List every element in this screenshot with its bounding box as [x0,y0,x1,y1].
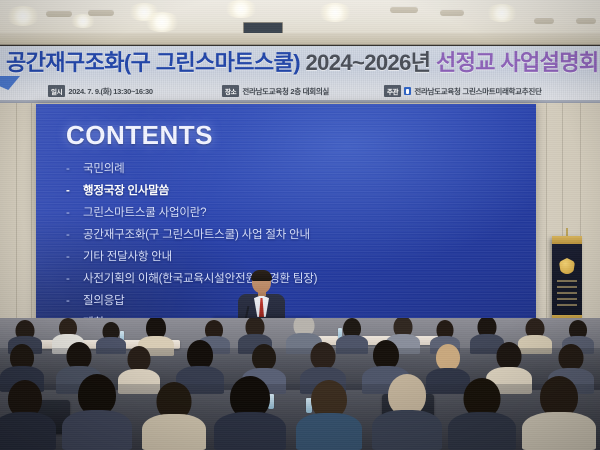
meta-text-organizer: 전라남도교육청 그린스마트미래학교추진단 [414,86,541,97]
flag-header-band [552,236,582,244]
bullet-text: 행정국장 인사말씀 [83,180,169,202]
meta-text-location: 전라남도교육청 2층 대회의실 [242,86,329,97]
ceremonial-flag [552,236,582,324]
ceiling-vent [534,17,554,24]
presenter-hair [251,270,272,281]
organizer-logo-icon [404,87,411,95]
slide-heading: CONTENTS [66,120,213,151]
audience-member [62,374,132,450]
banner-meta-datetime: 일시 2024. 7. 9.(화) 13:30~16:30 [48,85,153,97]
ceiling-vent [576,17,596,24]
bullet-text: 그린스마트스쿨 사업이란? [83,202,206,224]
meta-tag-datetime: 일시 [48,85,65,97]
ceiling-vent [46,10,72,17]
bullet-marker: - [66,224,74,246]
bullet-marker: - [66,158,74,180]
meta-text-datetime: 2024. 7. 9.(화) 13:30~16:30 [68,86,152,97]
banner-meta-organizer: 주관 전라남도교육청 그린스마트미래학교추진단 [384,85,542,97]
banner-title-part2: 2024~2026년 [305,50,430,75]
audience-member [448,378,516,450]
bullet-marker: - [66,180,74,202]
bullet-text: 공간재구조화(구 그린스마트스쿨) 사업 절차 안내 [83,224,310,246]
ceiling-light-icon [144,12,180,32]
ceiling-light-icon [70,14,96,28]
slide-bullet-item: - 국민의례 [66,158,506,180]
bullet-marker: - [66,290,74,312]
audience-member [142,382,206,450]
audience-member [372,374,442,450]
slide-bullet-item-highlighted: - 행정국장 인사말씀 [66,180,506,202]
audience-member [214,376,286,450]
bullet-marker: - [66,246,74,268]
audience-member [522,376,596,450]
conference-photo: 공간재구조화(구 그린스마트스쿨) 2024~2026년 선정교 사업설명회 일… [0,0,600,450]
flag-lettering [557,280,577,306]
flag-emblem-icon [559,258,575,274]
banner-title: 공간재구조화(구 그린스마트스쿨) 2024~2026년 선정교 사업설명회 [6,48,600,78]
event-banner: 공간재구조화(구 그린스마트스쿨) 2024~2026년 선정교 사업설명회 일… [0,46,600,102]
banner-meta-location: 장소 전라남도교육청 2층 대회의실 [222,85,329,97]
slide-bullet-item: - 기타 전달사항 안내 [66,246,506,268]
ceiling-vent [390,6,418,13]
ceiling-light-icon [318,3,352,22]
banner-meta-row: 일시 2024. 7. 9.(화) 13:30~16:30 장소 전라남도교육청… [0,82,600,100]
bullet-marker: - [66,202,74,224]
audience-area [0,318,600,450]
meta-tag-organizer: 주관 [384,85,401,97]
ceiling-vent [440,9,464,16]
bullet-marker: - [66,268,74,290]
bullet-text: 국민의례 [83,158,125,180]
ceiling-light-icon [224,0,258,18]
bullet-text: 기타 전달사항 안내 [83,246,172,268]
ceiling-light-icon [6,6,40,26]
bullet-text: 질의응답 [83,290,125,312]
ceiling-light-icon [486,4,518,22]
slide-bullet-item: - 그린스마트스쿨 사업이란? [66,202,506,224]
ceiling [0,0,600,36]
audience-member [0,380,56,450]
banner-title-part3: 선정교 사업설명회 [436,50,599,75]
meta-tag-location: 장소 [222,85,239,97]
slide-bullet-item: - 공간재구조화(구 그린스마트스쿨) 사업 절차 안내 [66,224,506,246]
audience-member [296,380,362,450]
banner-title-part1: 공간재구조화(구 그린스마트스쿨) [6,50,300,75]
ceiling-vent [88,9,114,16]
